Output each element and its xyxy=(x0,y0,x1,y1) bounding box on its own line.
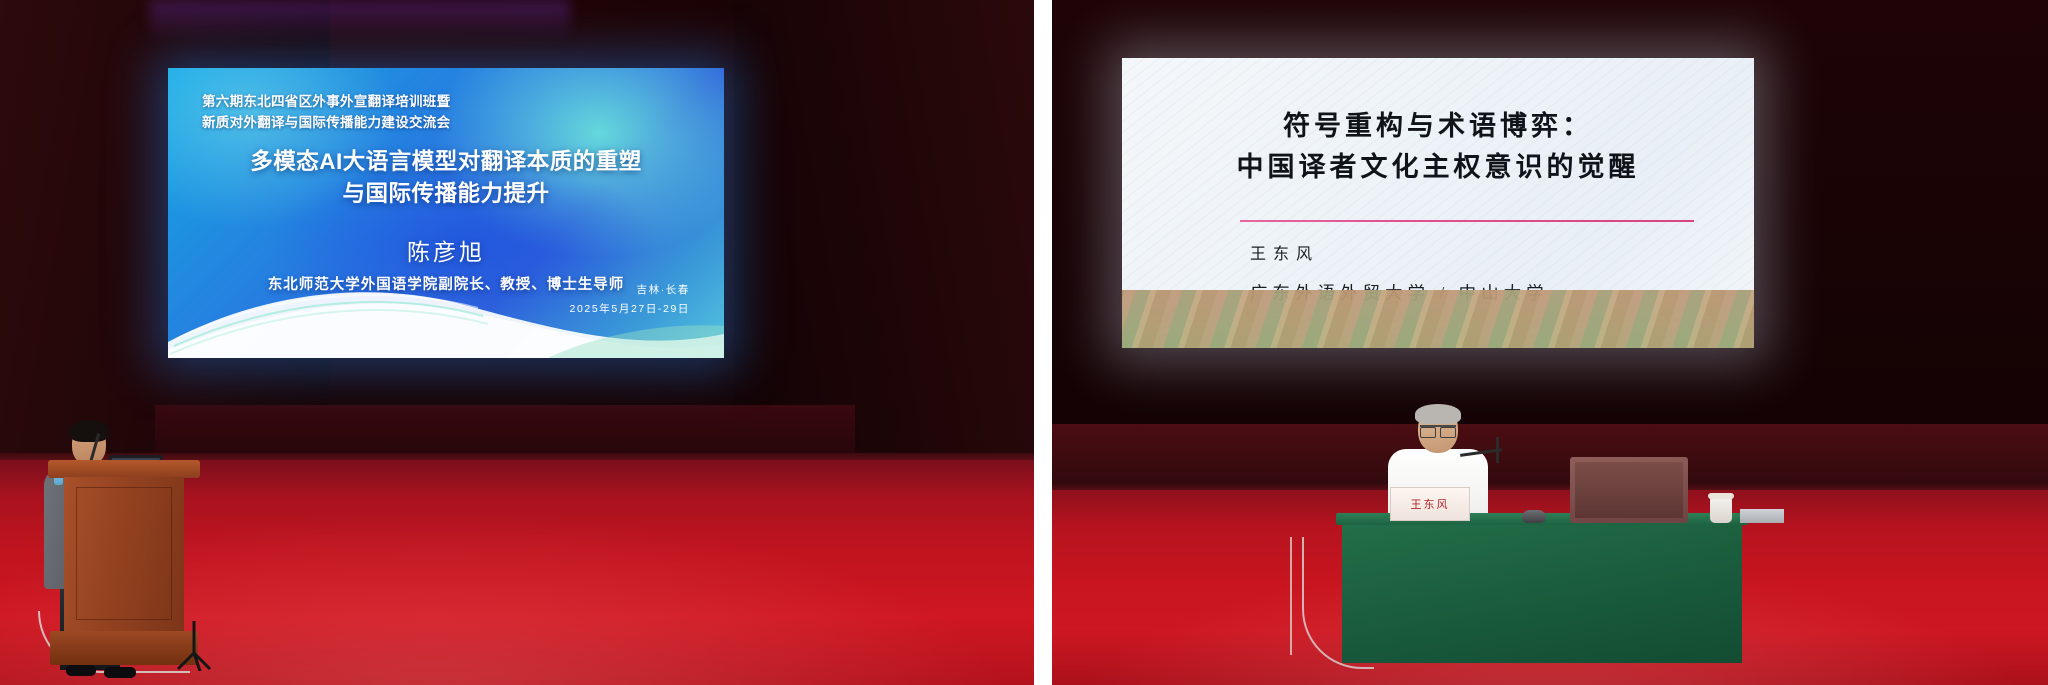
speaker-table: 王东风 xyxy=(1342,503,1742,663)
podium-top-surface xyxy=(48,460,200,478)
equipment-stand-icon xyxy=(172,619,216,671)
document-stack xyxy=(1740,509,1784,523)
podium-body xyxy=(64,477,184,632)
floor-cable-secondary xyxy=(1290,537,1292,655)
slide-title-line-1: 符号重构与术语博弈： xyxy=(1122,106,1754,147)
slide-header-block: 第六期东北四省区外事外宣翻译培训班暨 新质对外翻译与国际传播能力建设交流会 xyxy=(202,92,450,134)
left-photo: 第六期东北四省区外事外宣翻译培训班暨 新质对外翻译与国际传播能力建设交流会 多模… xyxy=(0,0,1034,685)
eyeglasses-icon xyxy=(1420,425,1456,436)
photo-pair-container: 第六期东北四省区外事外宣翻译培训班暨 新质对外翻译与国际传播能力建设交流会 多模… xyxy=(0,0,2048,685)
stage-back-panel xyxy=(155,405,855,460)
table-laptop xyxy=(1570,457,1688,523)
right-photo: 符号重构与术语博弈： 中国译者文化主权意识的觉醒 王东风 广东外语外贸大学 / … xyxy=(1052,0,2048,685)
paper-cup xyxy=(1710,497,1732,523)
slide-title-block: 符号重构与术语博弈： 中国译者文化主权意识的觉醒 xyxy=(1122,106,1754,187)
slide-divider-rule xyxy=(1240,220,1694,222)
slide-bottom-wood-band xyxy=(1122,290,1754,348)
slide-wave-decoration-icon xyxy=(168,272,724,358)
paper-cup-lid xyxy=(1708,493,1734,499)
photo-divider xyxy=(1034,0,1052,685)
stage-light-glow xyxy=(150,0,570,40)
presenter-shoe-left xyxy=(66,665,96,676)
slide-title-line-2: 中国译者文化主权意识的觉醒 xyxy=(1122,147,1754,188)
slide-speaker-name: 王东风 xyxy=(1250,240,1319,264)
slide-title-block: 多模态AI大语言模型对翻译本质的重塑 与国际传播能力提升 xyxy=(168,146,724,210)
speaker-nameplate: 王东风 xyxy=(1390,487,1470,521)
slide-header-line-1: 第六期东北四省区外事外宣翻译培训班暨 xyxy=(202,92,450,113)
wooden-podium xyxy=(58,460,190,665)
projected-slide-right: 符号重构与术语博弈： 中国译者文化主权意识的觉醒 王东风 广东外语外贸大学 / … xyxy=(1122,58,1754,348)
slide-title-line-2: 与国际传播能力提升 xyxy=(168,178,724,210)
stage-back-riser xyxy=(1052,424,2048,484)
slide-title-line-1: 多模态AI大语言模型对翻译本质的重塑 xyxy=(168,146,724,178)
green-table-cloth xyxy=(1342,523,1742,663)
projected-slide-left: 第六期东北四省区外事外宣翻译培训班暨 新质对外翻译与国际传播能力建设交流会 多模… xyxy=(168,68,724,358)
presenter-hair xyxy=(69,420,109,442)
slide-header-line-2: 新质对外翻译与国际传播能力建设交流会 xyxy=(202,113,450,134)
microphone-stand-icon xyxy=(1496,437,1499,463)
stage-wall-right xyxy=(734,0,1034,470)
nameplate-text: 王东风 xyxy=(1411,496,1450,512)
slide-speaker-name: 陈彦旭 xyxy=(168,233,724,267)
presenter-shoe-right xyxy=(104,667,136,678)
computer-mouse-icon xyxy=(1522,510,1546,523)
speaker-hair xyxy=(1415,404,1461,424)
